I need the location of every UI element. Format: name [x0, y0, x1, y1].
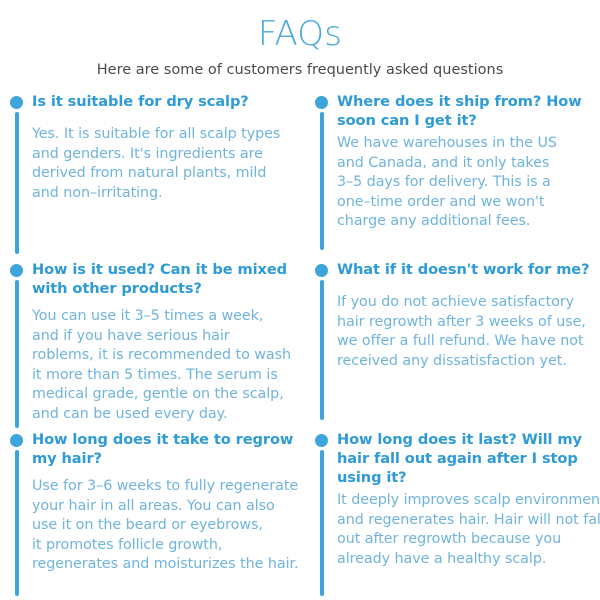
faq-answer: It deeply improves scalp environment and…	[337, 491, 600, 569]
vertical-bar-icon	[320, 450, 324, 596]
faq-question: Is it suitable for dry scalp?	[32, 92, 305, 111]
page-subtitle: Here are some of customers frequently as…	[0, 60, 600, 80]
vertical-bar-icon	[15, 450, 19, 596]
faq-item-dry-scalp[interactable]: Is it suitable for dry scalp? Yes. It is…	[10, 92, 305, 260]
vertical-bar-icon	[15, 280, 19, 428]
faq-item-how-used[interactable]: How is it used? Can it be mixed with oth…	[10, 260, 305, 430]
faq-page: FAQs Here are some of customers frequent…	[0, 0, 600, 600]
faq-answer: Yes. It is suitable for all scalp types …	[32, 125, 305, 203]
faq-question: What if it doesn't work for me?	[337, 260, 600, 279]
faq-item-doesnt-work[interactable]: What if it doesn't work for me? If you d…	[315, 260, 600, 430]
page-header: FAQs Here are some of customers frequent…	[0, 0, 600, 80]
faq-item-regrow-time[interactable]: How long does it take to regrow my hair?…	[10, 430, 305, 600]
faq-question: How long does it take to regrow my hair?	[32, 430, 305, 468]
bullet-dot-icon	[315, 264, 328, 277]
faq-grid: Is it suitable for dry scalp? Yes. It is…	[0, 92, 600, 600]
vertical-bar-icon	[15, 112, 19, 254]
faq-answer: We have warehouses in the US and Canada,…	[337, 134, 600, 232]
faq-item-how-long-lasts[interactable]: How long does it last? Will my hair fall…	[315, 430, 600, 600]
vertical-bar-icon	[320, 280, 324, 420]
bullet-dot-icon	[315, 434, 328, 447]
bullet-dot-icon	[10, 264, 23, 277]
bullet-dot-icon	[10, 434, 23, 447]
faq-question: How long does it last? Will my hair fall…	[337, 430, 600, 487]
faq-answer: Use for 3–6 weeks to fully regenerate yo…	[32, 477, 305, 575]
faq-question: How is it used? Can it be mixed with oth…	[32, 260, 305, 298]
bullet-dot-icon	[10, 96, 23, 109]
faq-answer: You can use it 3–5 times a week, and if …	[32, 307, 305, 424]
page-title: FAQs	[0, 14, 600, 54]
faq-item-shipping[interactable]: Where does it ship from? How soon can I …	[315, 92, 600, 260]
faq-answer: If you do not achieve satisfactory hair …	[337, 293, 600, 371]
bullet-dot-icon	[315, 96, 328, 109]
vertical-bar-icon	[320, 112, 324, 250]
faq-question: Where does it ship from? How soon can I …	[337, 92, 600, 130]
